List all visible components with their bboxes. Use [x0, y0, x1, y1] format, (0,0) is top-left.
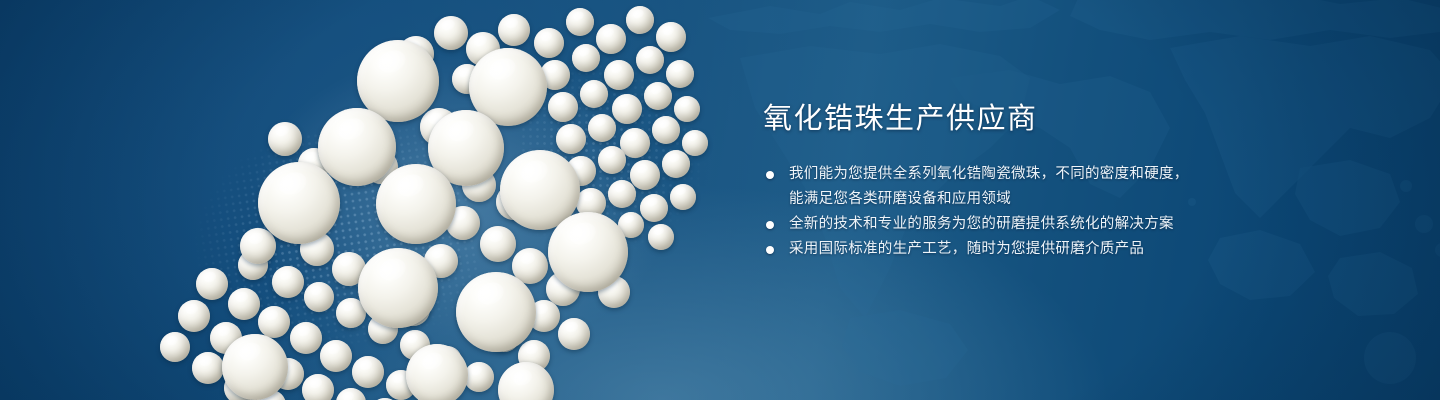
list-item: 采用国际标准的生产工艺，随时为您提供研磨介质产品: [763, 237, 1223, 262]
bullet-dot-icon: [766, 246, 774, 254]
list-item-label: 全新的技术和专业的服务为您的研磨提供系统化的解决方案: [789, 216, 1174, 232]
feature-list: 我们能为您提供全系列氧化锆陶瓷微珠，不同的密度和硬度，能满足您各类研磨设备和应用…: [763, 162, 1223, 262]
list-item-label: 采用国际标准的生产工艺，随时为您提供研磨介质产品: [789, 241, 1144, 257]
bullet-dot-icon: [766, 221, 774, 229]
list-item-label: 我们能为您提供全系列氧化锆陶瓷微珠，不同的密度和硬度，能满足您各类研磨设备和应用…: [789, 166, 1189, 207]
list-item: 我们能为您提供全系列氧化锆陶瓷微珠，不同的密度和硬度，能满足您各类研磨设备和应用…: [763, 162, 1223, 212]
background-vignette: [0, 0, 1440, 400]
list-item: 全新的技术和专业的服务为您的研磨提供系统化的解决方案: [763, 212, 1223, 237]
page-title: 氧化锆珠生产供应商: [763, 104, 1223, 136]
bullet-dot-icon: [766, 171, 774, 179]
promo-banner: 氧化锆珠生产供应商 我们能为您提供全系列氧化锆陶瓷微珠，不同的密度和硬度，能满足…: [0, 0, 1440, 400]
banner-content: 氧化锆珠生产供应商 我们能为您提供全系列氧化锆陶瓷微珠，不同的密度和硬度，能满足…: [763, 104, 1223, 262]
